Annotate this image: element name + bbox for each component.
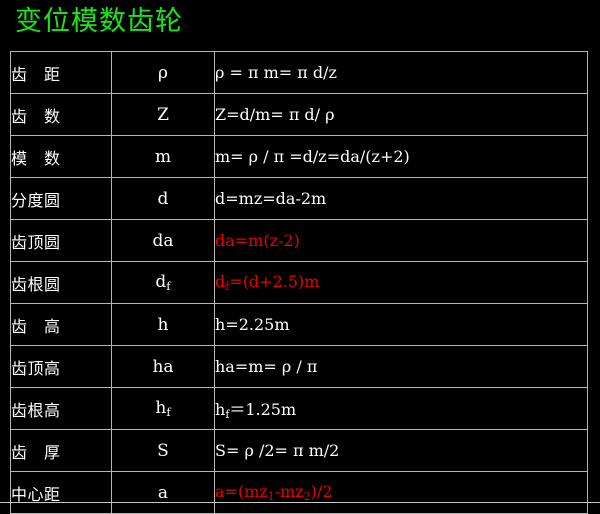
parameter-formula-cell: a=(mz1-mz2)/2 [215, 472, 588, 514]
parameter-symbol-cell: S [112, 430, 215, 472]
parameter-name-cell: 分度圆 [11, 178, 112, 220]
parameter-symbol-cell: da [112, 220, 215, 262]
parameter-formula-cell: da=m(z-2) [215, 220, 588, 262]
parameter-formula-cell: m= ρ / π =d/z=da/(z+2) [215, 136, 588, 178]
table-row: 齿根高hfhf＝1.25m [11, 388, 588, 430]
symbol-base: d [155, 272, 166, 292]
gear-parameters-table-container: 齿 距ρρ = π m= π d/z齿 数ZZ=d/m= π d/ ρ模 数mm… [10, 51, 588, 502]
parameter-symbol-cell: hf [112, 388, 215, 430]
parameter-formula-cell: hf＝1.25m [215, 388, 588, 430]
table-row: 齿 数ZZ=d/m= π d/ ρ [11, 94, 588, 136]
table-row: 分度圆dd=mz=da-2m [11, 178, 588, 220]
symbol-subscript: f [166, 279, 170, 293]
parameter-name-cell: 齿 距 [11, 52, 112, 94]
parameter-symbol-cell: a [112, 472, 215, 514]
parameter-symbol-cell: h [112, 304, 215, 346]
parameter-name-cell: 齿根圆 [11, 262, 112, 304]
parameter-formula-cell: d=mz=da-2m [215, 178, 588, 220]
parameter-name-cell: 齿顶圆 [11, 220, 112, 262]
parameter-symbol-cell: ρ [112, 52, 215, 94]
table-row: 齿根圆dfdf=(d+2.5)m [11, 262, 588, 304]
parameter-formula-cell: df=(d+2.5)m [215, 262, 588, 304]
parameter-name-cell: 模 数 [11, 136, 112, 178]
parameter-symbol-cell: df [112, 262, 215, 304]
table-body: 齿 距ρρ = π m= π d/z齿 数ZZ=d/m= π d/ ρ模 数mm… [11, 52, 588, 514]
parameter-symbol-cell: d [112, 178, 215, 220]
parameter-formula-cell: Z=d/m= π d/ ρ [215, 94, 588, 136]
parameter-name-cell: 齿 高 [11, 304, 112, 346]
gear-parameters-table: 齿 距ρρ = π m= π d/z齿 数ZZ=d/m= π d/ ρ模 数mm… [10, 51, 588, 514]
symbol-subscript: f [166, 405, 170, 419]
symbol-base: h [155, 398, 166, 418]
table-row: 齿 厚SS= ρ /2= π m/2 [11, 430, 588, 472]
parameter-name-cell: 中心距 [11, 472, 112, 514]
parameter-symbol-cell: ha [112, 346, 215, 388]
parameter-name-cell: 齿根高 [11, 388, 112, 430]
slide-canvas: 变位模数齿轮 齿 距ρρ = π m= π d/z齿 数ZZ=d/m= π d/… [0, 0, 600, 505]
parameter-symbol-cell: m [112, 136, 215, 178]
page-title: 变位模数齿轮 [15, 2, 183, 42]
table-row: 齿顶高haha=m= ρ / π [11, 346, 588, 388]
parameter-formula-cell: S= ρ /2= π m/2 [215, 430, 588, 472]
parameter-formula-cell: ρ = π m= π d/z [215, 52, 588, 94]
parameter-name-cell: 齿 厚 [11, 430, 112, 472]
parameter-formula-cell: ha=m= ρ / π [215, 346, 588, 388]
table-row: 齿 高hh=2.25m [11, 304, 588, 346]
parameter-formula-cell: h=2.25m [215, 304, 588, 346]
parameter-name-cell: 齿顶高 [11, 346, 112, 388]
table-row: 齿 距ρρ = π m= π d/z [11, 52, 588, 94]
table-row: 模 数mm= ρ / π =d/z=da/(z+2) [11, 136, 588, 178]
table-row: 中心距aa=(mz1-mz2)/2 [11, 472, 588, 514]
bottom-divider [0, 502, 600, 503]
table-row: 齿顶圆dada=m(z-2) [11, 220, 588, 262]
parameter-name-cell: 齿 数 [11, 94, 112, 136]
parameter-symbol-cell: Z [112, 94, 215, 136]
